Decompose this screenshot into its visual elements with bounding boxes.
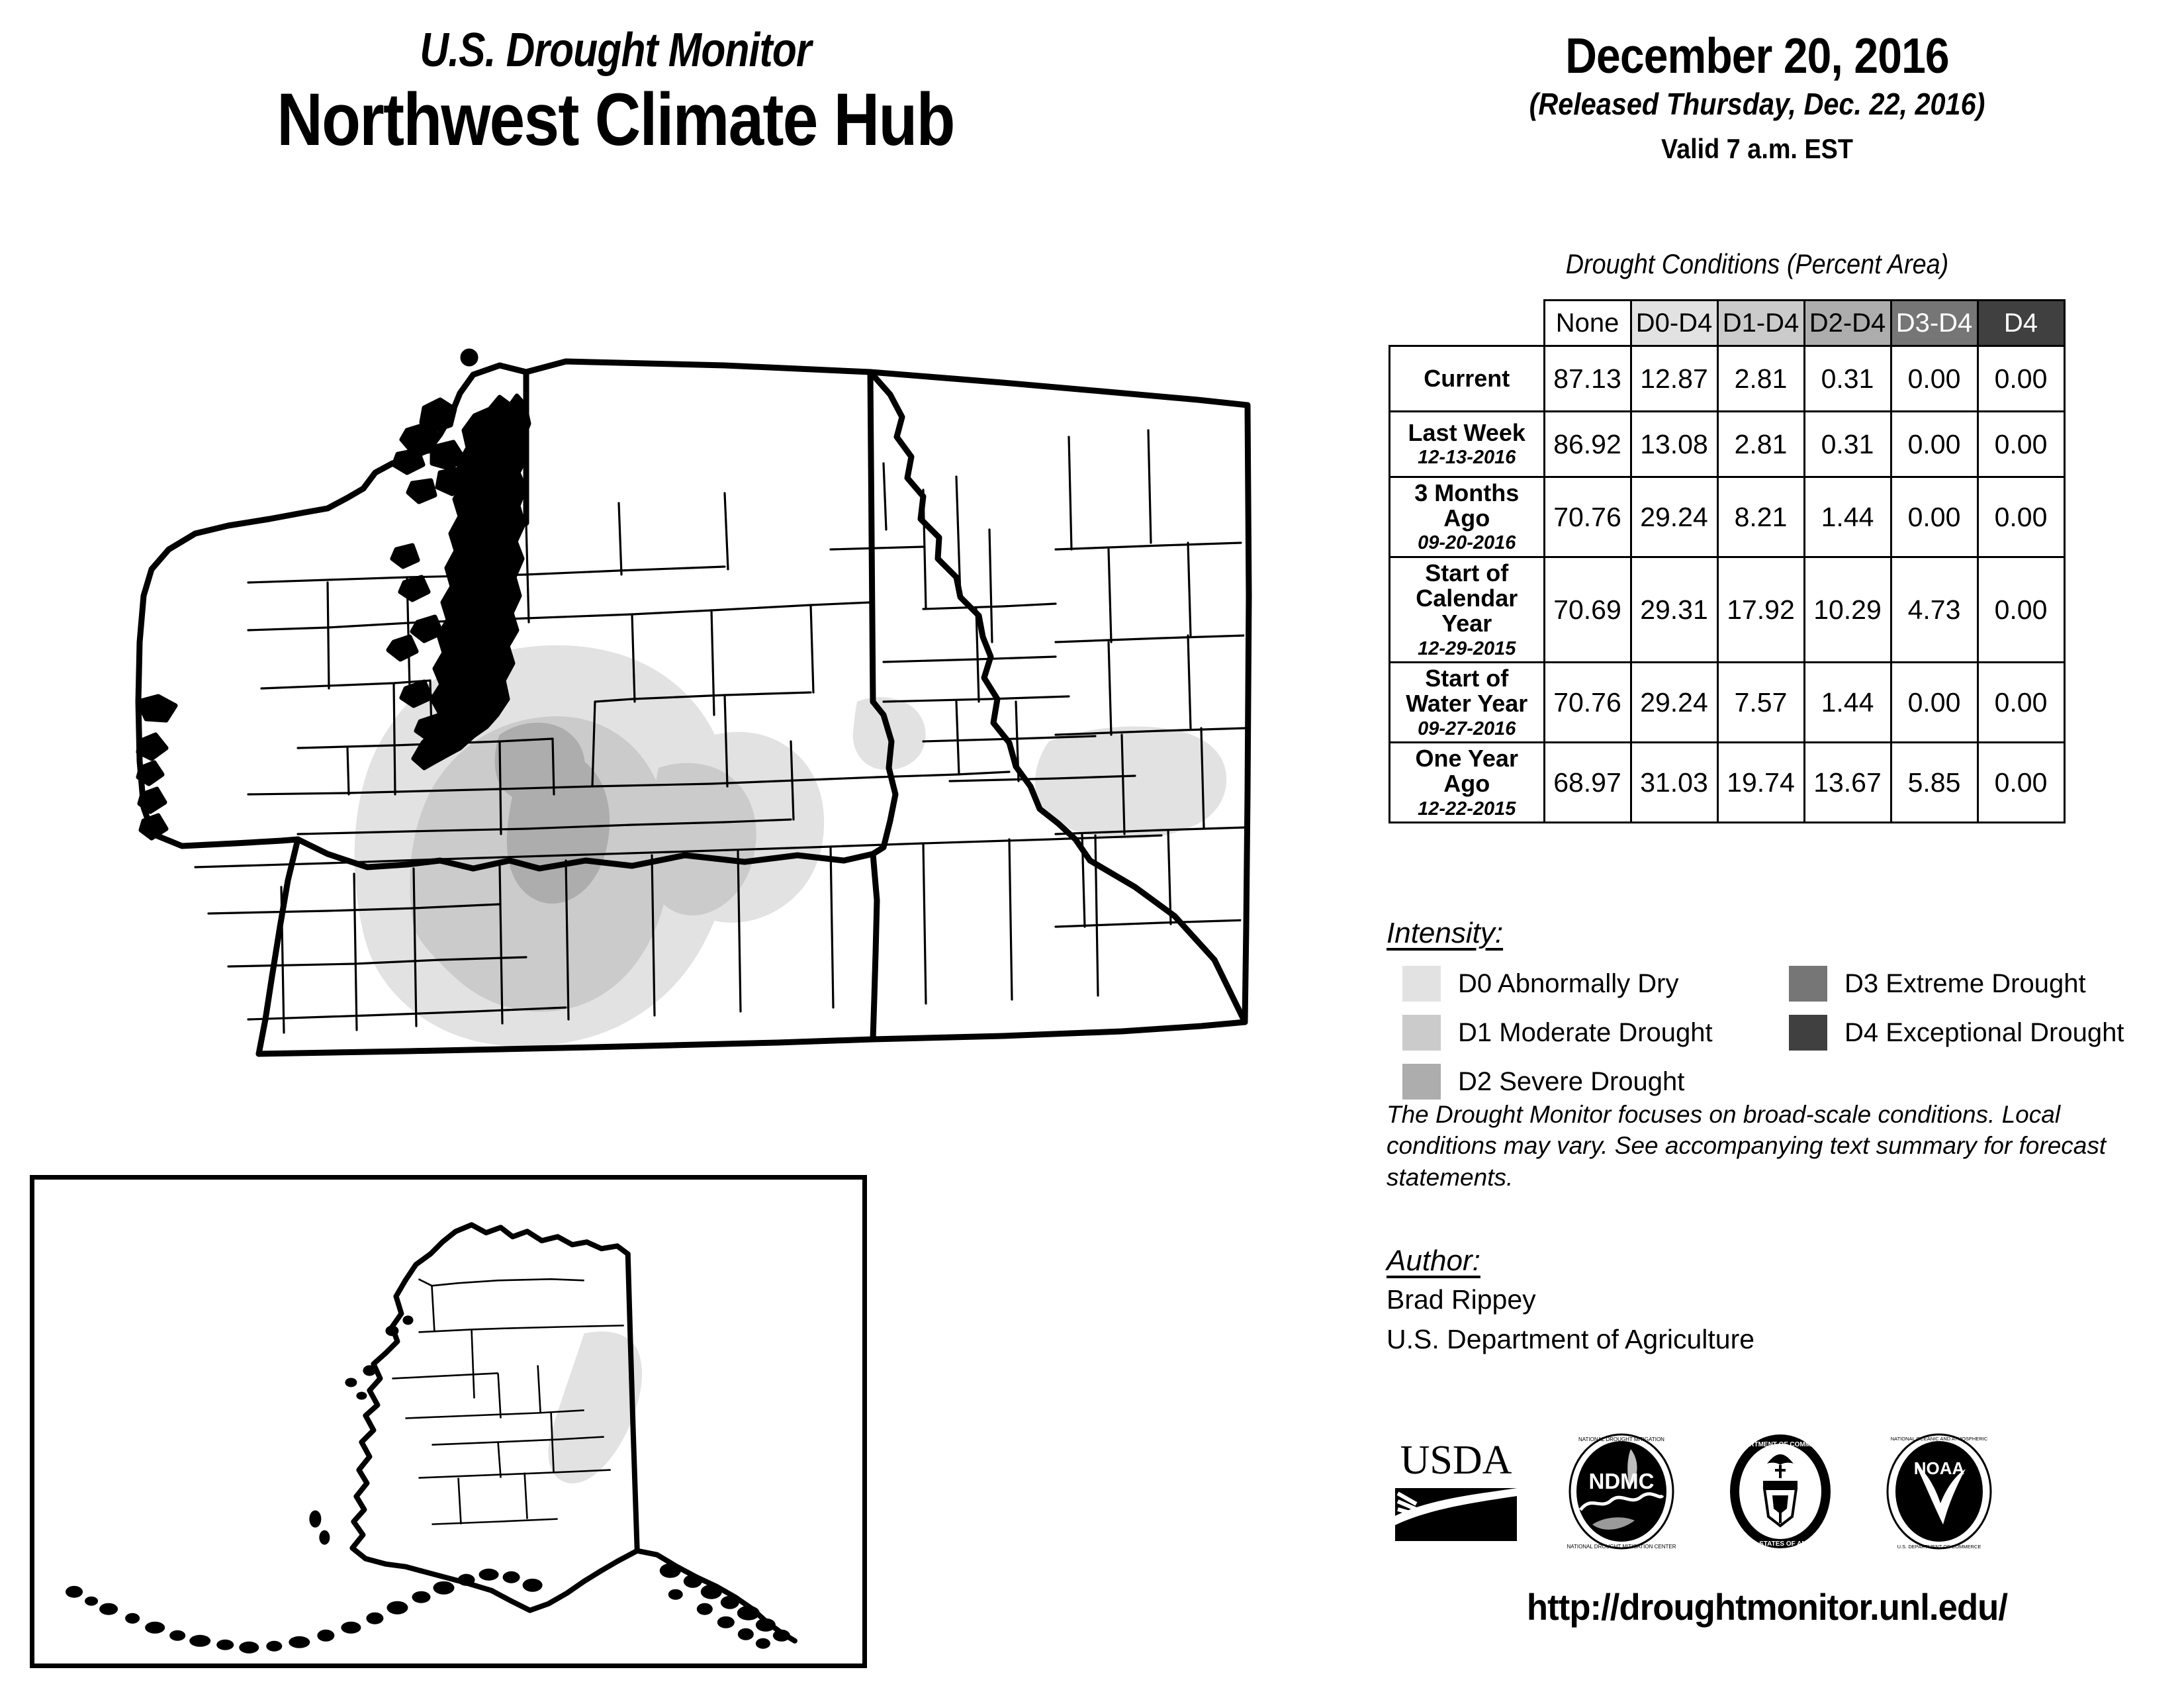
cell-last-week-d1d4: 2.81 xyxy=(1717,412,1804,477)
noaa-logo[interactable]: NOAA NATIONAL OCEANIC AND ATMOSPHERIC U.… xyxy=(1880,1432,1999,1554)
cell-1yr-d0d4: 31.03 xyxy=(1631,743,1717,823)
cell-water-d0d4: 29.24 xyxy=(1631,663,1717,743)
row-label-text: Start ofCalendar Year xyxy=(1416,559,1518,637)
table-row: Current 87.13 12.87 2.81 0.31 0.00 0.00 xyxy=(1390,346,2065,412)
header-d2-d4: D2-D4 xyxy=(1804,301,1891,346)
cell-cal-none: 70.69 xyxy=(1544,557,1631,663)
cell-current-d1d4: 2.81 xyxy=(1717,346,1804,412)
cell-current-none: 87.13 xyxy=(1544,346,1631,412)
legend-item-d3: D3 Extreme Drought xyxy=(1789,966,2086,1002)
drought-area-d2-core-north xyxy=(495,723,585,804)
cell-water-d4: 0.00 xyxy=(1978,663,2064,743)
legend-label-d1: D1 Moderate Drought xyxy=(1458,1018,1713,1048)
cell-3mo-d1d4: 8.21 xyxy=(1717,477,1804,557)
table-row: Start ofWater Year 09-27-2016 70.76 29.2… xyxy=(1390,663,2065,743)
cell-cal-d2d4: 10.29 xyxy=(1804,557,1891,663)
cell-1yr-d2d4: 13.67 xyxy=(1804,743,1891,823)
author-title: Author: xyxy=(1387,1244,1480,1278)
header-d3-d4: D3-D4 xyxy=(1891,301,1978,346)
cell-water-d1d4: 7.57 xyxy=(1717,663,1804,743)
cell-1yr-none: 68.97 xyxy=(1544,743,1631,823)
row-label-start-calendar-year: Start ofCalendar Year 12-29-2015 xyxy=(1390,557,1545,663)
drought-area-d0-ne-montana xyxy=(1035,726,1226,839)
usda-logo[interactable]: USDA xyxy=(1390,1435,1522,1551)
page-title: Northwest Climate Hub xyxy=(86,78,1145,161)
row-label-date: 09-20-2016 xyxy=(1394,533,1539,553)
d2-swatch-icon xyxy=(1402,1064,1441,1100)
svg-text:USDA: USDA xyxy=(1400,1438,1512,1483)
row-label-last-week: Last Week 12-13-2016 xyxy=(1390,412,1545,477)
logo-strip: USDA NDMC NATIONAL DROUGHT MITIGATION NA… xyxy=(1390,1427,2171,1559)
legend-label-d2: D2 Severe Drought xyxy=(1458,1067,1684,1097)
svg-text:DEPARTMENT OF COMMERCE: DEPARTMENT OF COMMERCE xyxy=(1731,1441,1829,1448)
program-title: U.S. Drought Monitor xyxy=(99,26,1132,74)
title-block: U.S. Drought Monitor Northwest Climate H… xyxy=(0,26,1231,161)
cell-cal-d3d4: 4.73 xyxy=(1891,557,1978,663)
row-label-date: 12-13-2016 xyxy=(1394,447,1539,468)
row-label-current: Current xyxy=(1390,346,1545,412)
d3-swatch-icon xyxy=(1789,966,1827,1002)
alaska-inset-map[interactable] xyxy=(30,1175,867,1668)
svg-text:NDMC: NDMC xyxy=(1589,1469,1655,1493)
table-body: Current 87.13 12.87 2.81 0.31 0.00 0.00 … xyxy=(1390,346,2065,823)
cell-water-d2d4: 1.44 xyxy=(1804,663,1891,743)
svg-text:NATIONAL DROUGHT MITIGATION CE: NATIONAL DROUGHT MITIGATION CENTER xyxy=(1567,1544,1676,1550)
map-panel: U.S. Drought Monitor Northwest Climate H… xyxy=(0,0,1350,1688)
legend-label-d3: D3 Extreme Drought xyxy=(1844,969,2086,999)
cell-last-week-none: 86.92 xyxy=(1544,412,1631,477)
cell-1yr-d1d4: 19.74 xyxy=(1717,743,1804,823)
table-header: None D0-D4 D1-D4 D2-D4 D3-D4 D4 xyxy=(1390,301,2065,346)
table-row: Start ofCalendar Year 12-29-2015 70.69 2… xyxy=(1390,557,2065,663)
drought-conditions-table: None D0-D4 D1-D4 D2-D4 D3-D4 D4 Current … xyxy=(1388,299,2066,823)
cell-current-d3d4: 0.00 xyxy=(1891,346,1978,412)
table-row: Last Week 12-13-2016 86.92 13.08 2.81 0.… xyxy=(1390,412,2065,477)
cell-cal-d0d4: 29.31 xyxy=(1631,557,1717,663)
ndmc-logo[interactable]: NDMC NATIONAL DROUGHT MITIGATION NATIONA… xyxy=(1562,1432,1681,1554)
legend-grid: D0 Abnormally Dry D1 Moderate Drought D2… xyxy=(1387,966,2167,1115)
table-row: 3 Months Ago 09-20-2016 70.76 29.24 8.21… xyxy=(1390,477,2065,557)
legend-item-d4: D4 Exceptional Drought xyxy=(1789,1015,2124,1051)
table-header-row: None D0-D4 D1-D4 D2-D4 D3-D4 D4 xyxy=(1390,301,2065,346)
header-none: None xyxy=(1544,301,1631,346)
cell-current-d0d4: 12.87 xyxy=(1631,346,1717,412)
valid-time: Valid 7 a.m. EST xyxy=(1391,134,2124,164)
cell-3mo-d0d4: 29.24 xyxy=(1631,477,1717,557)
cell-water-none: 70.76 xyxy=(1544,663,1631,743)
svg-text:UNITED STATES OF AMERICA: UNITED STATES OF AMERICA xyxy=(1733,1540,1828,1548)
table-row: One Year Ago 12-22-2015 68.97 31.03 19.7… xyxy=(1390,743,2065,823)
header-d1-d4: D1-D4 xyxy=(1717,301,1804,346)
cell-3mo-d4: 0.00 xyxy=(1978,477,2064,557)
header-blank-cell xyxy=(1390,301,1545,346)
map-date: December 20, 2016 xyxy=(1399,30,2115,82)
row-label-text: Last Week xyxy=(1408,419,1525,446)
cell-last-week-d3d4: 0.00 xyxy=(1891,412,1978,477)
website-url[interactable]: http://droughtmonitor.unl.edu/ xyxy=(1375,1585,2159,1628)
disclaimer-text: The Drought Monitor focuses on broad-sca… xyxy=(1387,1099,2167,1193)
release-date: (Released Thursday, Dec. 22, 2016) xyxy=(1391,87,2124,121)
row-label-one-year-ago: One Year Ago 12-22-2015 xyxy=(1390,743,1545,823)
legend-label-d0: D0 Abnormally Dry xyxy=(1458,969,1678,999)
cell-1yr-d4: 0.00 xyxy=(1978,743,2064,823)
row-label-3-months-ago: 3 Months Ago 09-20-2016 xyxy=(1390,477,1545,557)
info-panel: December 20, 2016 (Released Thursday, De… xyxy=(1350,0,2184,1688)
intensity-title: Intensity: xyxy=(1387,917,1503,950)
cell-water-d3d4: 0.00 xyxy=(1891,663,1978,743)
cell-cal-d1d4: 17.92 xyxy=(1717,557,1804,663)
legend-item-d0: D0 Abnormally Dry xyxy=(1402,966,1678,1002)
author-name: Brad Rippey xyxy=(1387,1282,2167,1317)
author-block: Author: Brad Rippey U.S. Department of A… xyxy=(1387,1244,2167,1357)
cell-last-week-d0d4: 13.08 xyxy=(1631,412,1717,477)
table-caption: Drought Conditions (Percent Area) xyxy=(1391,248,2124,280)
row-label-date: 12-22-2015 xyxy=(1394,799,1539,820)
date-block: December 20, 2016 (Released Thursday, De… xyxy=(1350,30,2164,165)
legend-label-d4: D4 Exceptional Drought xyxy=(1844,1018,2124,1048)
svg-text:NOAA: NOAA xyxy=(1914,1458,1965,1478)
d4-swatch-icon xyxy=(1789,1015,1827,1051)
d1-swatch-icon xyxy=(1402,1015,1441,1051)
header-d4: D4 xyxy=(1978,301,2064,346)
cell-current-d4: 0.00 xyxy=(1978,346,2064,412)
row-label-date: 12-29-2015 xyxy=(1394,639,1539,659)
header-d0-d4: D0-D4 xyxy=(1631,301,1717,346)
row-label-text: Start ofWater Year xyxy=(1406,665,1527,717)
row-label-start-water-year: Start ofWater Year 09-27-2016 xyxy=(1390,663,1545,743)
row-label-text: 3 Months Ago xyxy=(1414,479,1519,532)
northwest-drought-map[interactable] xyxy=(129,331,1254,1145)
cell-last-week-d4: 0.00 xyxy=(1978,412,2064,477)
cell-3mo-d3d4: 0.00 xyxy=(1891,477,1978,557)
svg-text:NATIONAL OCEANIC AND ATMOSPHER: NATIONAL OCEANIC AND ATMOSPHERIC xyxy=(1891,1436,1988,1442)
legend-item-d2: D2 Severe Drought xyxy=(1402,1064,1684,1100)
d0-swatch-icon xyxy=(1402,966,1441,1002)
cell-1yr-d3d4: 5.85 xyxy=(1891,743,1978,823)
cell-3mo-none: 70.76 xyxy=(1544,477,1631,557)
cell-current-d2d4: 0.31 xyxy=(1804,346,1891,412)
intensity-legend: Intensity: D0 Abnormally Dry D1 Moderate… xyxy=(1387,917,2167,1115)
cell-cal-d4: 0.00 xyxy=(1978,557,2064,663)
cell-last-week-d2d4: 0.31 xyxy=(1804,412,1891,477)
svg-text:NATIONAL DROUGHT MITIGATION: NATIONAL DROUGHT MITIGATION xyxy=(1578,1436,1664,1442)
legend-item-d1: D1 Moderate Drought xyxy=(1402,1015,1713,1051)
row-label-text: Current xyxy=(1424,365,1510,392)
row-label-date: 09-27-2016 xyxy=(1394,719,1539,739)
cell-3mo-d2d4: 1.44 xyxy=(1804,477,1891,557)
row-label-text: One Year Ago xyxy=(1416,745,1518,797)
author-organization: U.S. Department of Agriculture xyxy=(1387,1321,2167,1357)
svg-text:U.S. DEPARTMENT OF COMMERCE: U.S. DEPARTMENT OF COMMERCE xyxy=(1897,1544,1981,1550)
commerce-logo[interactable]: DEPARTMENT OF COMMERCE UNITED STATES OF … xyxy=(1721,1432,1840,1554)
